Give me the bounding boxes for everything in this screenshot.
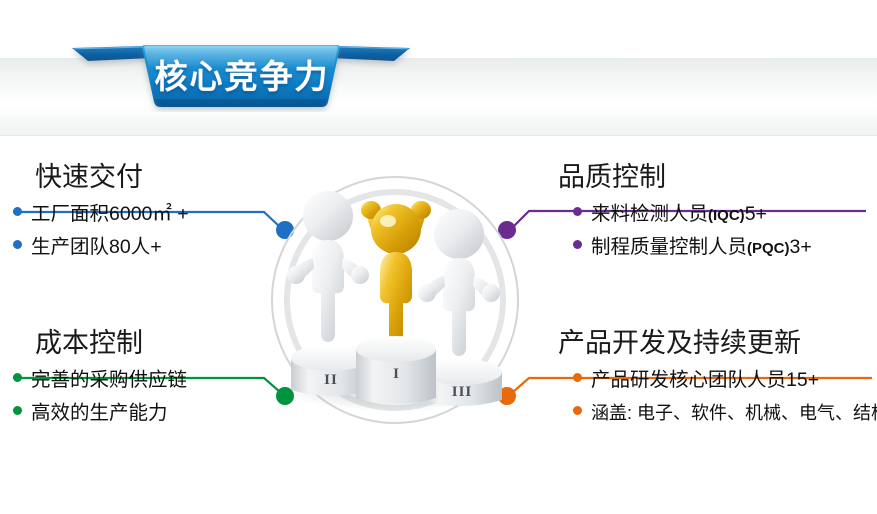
quadrant-fast-delivery: 快速交付 工厂面积6000㎡ + 生产团队80人+ — [13, 164, 281, 257]
bullet-text: 制程质量控制人员 — [591, 238, 747, 258]
bullet-dot-icon — [573, 373, 582, 382]
podium-block-first: I — [356, 336, 436, 404]
list-item: 工厂面积6000㎡ + — [13, 205, 281, 225]
slide-canvas: 核心竞争力 — [0, 0, 877, 514]
section-banner: 核心竞争力 — [66, 36, 416, 112]
list-item: 涵盖: 电子、软件、机械、电气、结构 — [573, 404, 877, 422]
bullet-dot-icon — [573, 207, 582, 216]
bullet-list-product-development: 产品研发核心团队人员15+ 涵盖: 电子、软件、机械、电气、结构 — [551, 371, 877, 422]
list-item: 完善的采购供应链 — [13, 371, 281, 391]
bullet-abbr: (IQC) — [708, 208, 745, 223]
silver-figure-third — [418, 209, 500, 356]
bullet-abbr: (PQC) — [747, 241, 790, 256]
quadrant-title-product-development: 产品开发及持续更新 — [558, 330, 877, 357]
quadrant-product-development: 产品开发及持续更新 产品研发核心团队人员15+ 涵盖: 电子、软件、机械、电气、… — [551, 330, 877, 422]
bullet-dot-icon — [13, 240, 22, 249]
silver-figure-second — [287, 191, 369, 342]
bullet-dot-icon — [573, 406, 582, 415]
bullet-list-quality-control: 来料检测人员(IQC)5+ 制程质量控制人员(PQC)3+ — [551, 205, 871, 257]
banner-shape — [66, 36, 416, 112]
bullet-text: 完善的采购供应链 — [31, 371, 187, 391]
podium-winners-illustration: II III I — [277, 186, 515, 422]
bullet-tail: 3+ — [790, 238, 812, 258]
quadrant-title-cost-control: 成本控制 — [35, 330, 281, 357]
bullet-text: 涵盖: 电子、软件、机械、电气、结构 — [591, 404, 877, 422]
bullet-text: 工厂面积6000㎡ + — [31, 205, 189, 225]
list-item: 制程质量控制人员(PQC)3+ — [573, 238, 871, 258]
list-item: 产品研发核心团队人员15+ — [573, 371, 877, 391]
list-item: 生产团队80人+ — [13, 238, 281, 258]
bullet-dot-icon — [13, 207, 22, 216]
gold-figure-first — [361, 201, 431, 353]
quadrant-quality-control: 品质控制 来料检测人员(IQC)5+ 制程质量控制人员(PQC)3+ — [551, 164, 871, 257]
quadrant-title-fast-delivery: 快速交付 — [35, 164, 281, 191]
bullet-dot-icon — [573, 240, 582, 249]
bullet-text: 产品研发核心团队人员15+ — [591, 371, 819, 391]
quadrant-title-quality-control: 品质控制 — [558, 164, 871, 191]
bullet-text: 生产团队80人+ — [31, 238, 162, 258]
podium-label-second: II — [324, 372, 338, 388]
podium-label-third: III — [452, 384, 473, 400]
bullet-text: 高效的生产能力 — [31, 404, 168, 424]
center-graphic: II III I — [263, 168, 528, 433]
bullet-list-cost-control: 完善的采购供应链 高效的生产能力 — [13, 371, 281, 423]
list-item: 来料检测人员(IQC)5+ — [573, 205, 871, 225]
bullet-tail: 5+ — [745, 205, 767, 225]
quadrant-cost-control: 成本控制 完善的采购供应链 高效的生产能力 — [13, 330, 281, 423]
bullet-dot-icon — [13, 373, 22, 382]
bullet-list-fast-delivery: 工厂面积6000㎡ + 生产团队80人+ — [13, 205, 281, 257]
bullet-dot-icon — [13, 406, 22, 415]
podium-label-first: I — [393, 366, 399, 382]
bullet-text: 来料检测人员 — [591, 205, 708, 225]
list-item: 高效的生产能力 — [13, 404, 281, 424]
